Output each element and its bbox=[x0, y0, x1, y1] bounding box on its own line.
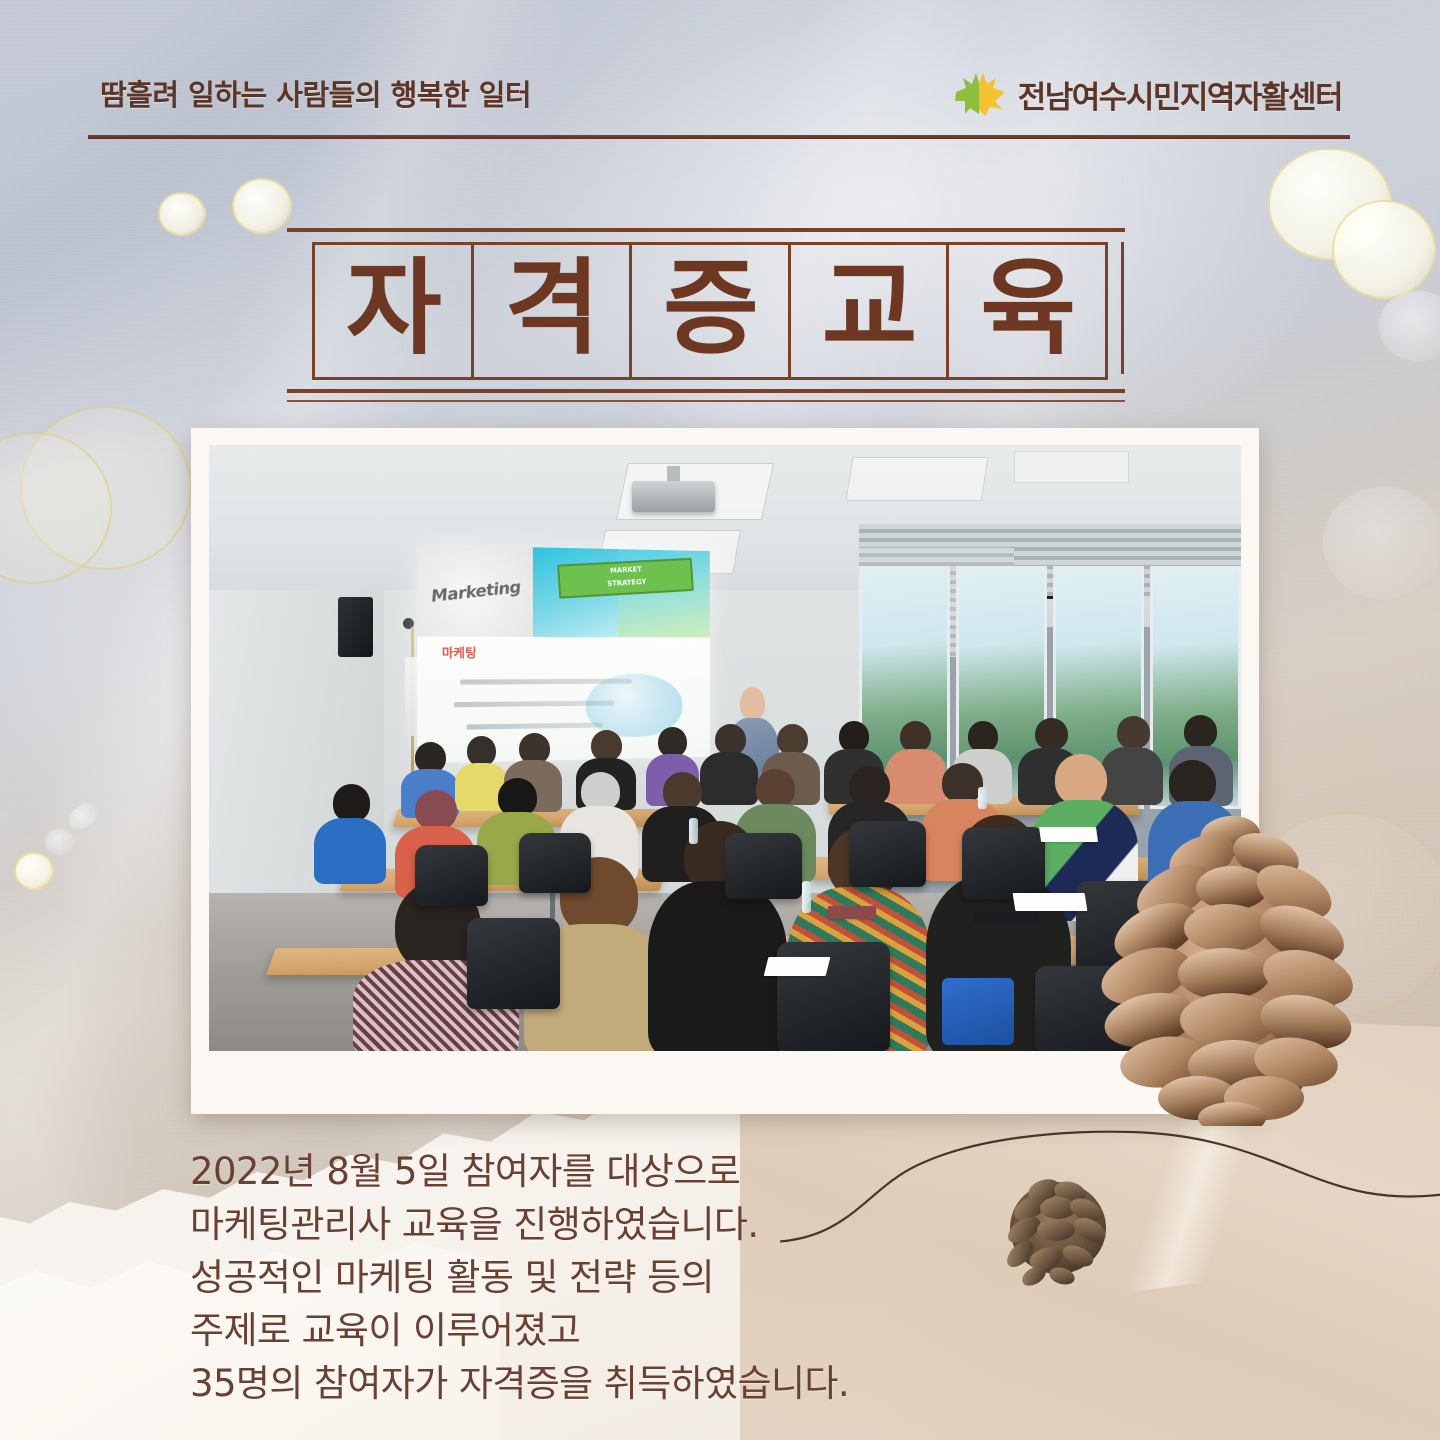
header: 땀흘려 일하는 사람들의 행복한 일터 전남여수시민지역자활센터 bbox=[0, 0, 1440, 150]
ceiling-panel bbox=[1014, 451, 1130, 483]
chair bbox=[849, 821, 926, 888]
attendee-head bbox=[839, 721, 870, 753]
slide-text-line bbox=[466, 723, 602, 730]
title-block: 자 격 증 교 육 bbox=[297, 228, 1117, 393]
organization-block: 전남여수시민지역자활센터 bbox=[952, 70, 1342, 118]
attendee-head bbox=[658, 727, 687, 757]
organization-name: 전남여수시민지역자활센터 bbox=[1018, 72, 1342, 117]
attendee-head bbox=[900, 721, 931, 753]
body-line: 35명의 참여자가 자격증을 취득하였습니다. bbox=[190, 1358, 1090, 1411]
title-char: 육 bbox=[949, 245, 1105, 377]
promo-card: 땀흘려 일하는 사람들의 행복한 일터 전남여수시민지역자활센터 자 격 증 교… bbox=[0, 0, 1440, 1440]
chair bbox=[467, 918, 560, 1009]
title-char-frame: 자 격 증 교 육 bbox=[312, 242, 1108, 380]
notebook bbox=[828, 906, 875, 919]
attendee-head bbox=[715, 724, 746, 756]
title-rule-bottom bbox=[287, 389, 1125, 393]
attendee-head bbox=[1117, 716, 1150, 749]
water-bottle bbox=[978, 787, 987, 809]
attendee-head bbox=[467, 736, 496, 766]
slide-top-row: Marketing MARKET STRATEGY bbox=[417, 545, 710, 638]
attendee-head bbox=[591, 730, 622, 762]
attendee-head bbox=[968, 721, 999, 753]
ceiling-panel bbox=[845, 457, 988, 501]
title-char: 증 bbox=[632, 245, 791, 377]
blue-bag bbox=[942, 978, 1014, 1045]
slide-heading: 마케팅 bbox=[441, 644, 475, 661]
slide-sign: MARKET STRATEGY bbox=[557, 558, 694, 599]
pinecone-icon bbox=[1098, 796, 1368, 1126]
chair bbox=[415, 845, 487, 906]
chair bbox=[725, 833, 802, 900]
attendee-head bbox=[1184, 715, 1217, 748]
title-char: 자 bbox=[315, 245, 474, 377]
water-bottle bbox=[689, 818, 698, 844]
chair bbox=[962, 827, 1045, 900]
photo-classroom: Marketing MARKET STRATEGY 마케팅 bbox=[209, 445, 1241, 1051]
slide-brand-label: Marketing bbox=[429, 577, 521, 606]
water-bottle bbox=[802, 881, 811, 913]
body-line: 성공적인 마케팅 활동 및 전략 등의 bbox=[190, 1252, 1090, 1305]
title-rule-top bbox=[287, 228, 1125, 232]
attendee-head bbox=[777, 724, 808, 756]
body-line: 마케팅관리사 교육을 진행하였습니다. bbox=[190, 1199, 1090, 1252]
wall-speaker bbox=[338, 597, 373, 658]
header-divider bbox=[88, 135, 1350, 139]
attendee-body bbox=[886, 749, 946, 804]
tagline: 땀흘려 일하는 사람들의 행복한 일터 bbox=[100, 72, 531, 114]
instructor-head bbox=[740, 687, 765, 720]
photo-scene: Marketing MARKET STRATEGY 마케팅 bbox=[209, 445, 1241, 1051]
attendee-head bbox=[756, 769, 795, 808]
title-char: 격 bbox=[474, 245, 633, 377]
slide-brand: Marketing bbox=[417, 545, 533, 637]
attendee-head bbox=[942, 763, 983, 803]
slide-image: MARKET STRATEGY bbox=[618, 549, 710, 637]
body-line: 주제로 교육이 이루어졌고 bbox=[190, 1305, 1090, 1358]
title-rule-bottom-thin bbox=[287, 400, 1125, 402]
projector bbox=[632, 481, 715, 511]
leaf-star-logo-icon bbox=[952, 70, 1008, 118]
attendee-head-scarf bbox=[415, 790, 456, 830]
title-char: 교 bbox=[791, 245, 950, 377]
body-text: 2022년 8월 5일 참여자를 대상으로 마케팅관리사 교육을 진행하였습니다… bbox=[190, 1146, 1090, 1411]
title-frame-right-edge bbox=[1121, 242, 1124, 374]
paper-sheet bbox=[1039, 827, 1098, 842]
attendee-body bbox=[700, 752, 758, 805]
paper-sheet bbox=[1013, 893, 1088, 911]
attendee-head bbox=[333, 784, 370, 822]
phone bbox=[972, 912, 1040, 923]
body-line: 2022년 8월 5일 참여자를 대상으로 bbox=[190, 1146, 1090, 1199]
attendee-head bbox=[1035, 718, 1068, 751]
attendee-body bbox=[314, 818, 386, 885]
paper-sheet bbox=[764, 957, 831, 976]
attendee-head bbox=[849, 766, 890, 806]
chair bbox=[519, 833, 591, 894]
